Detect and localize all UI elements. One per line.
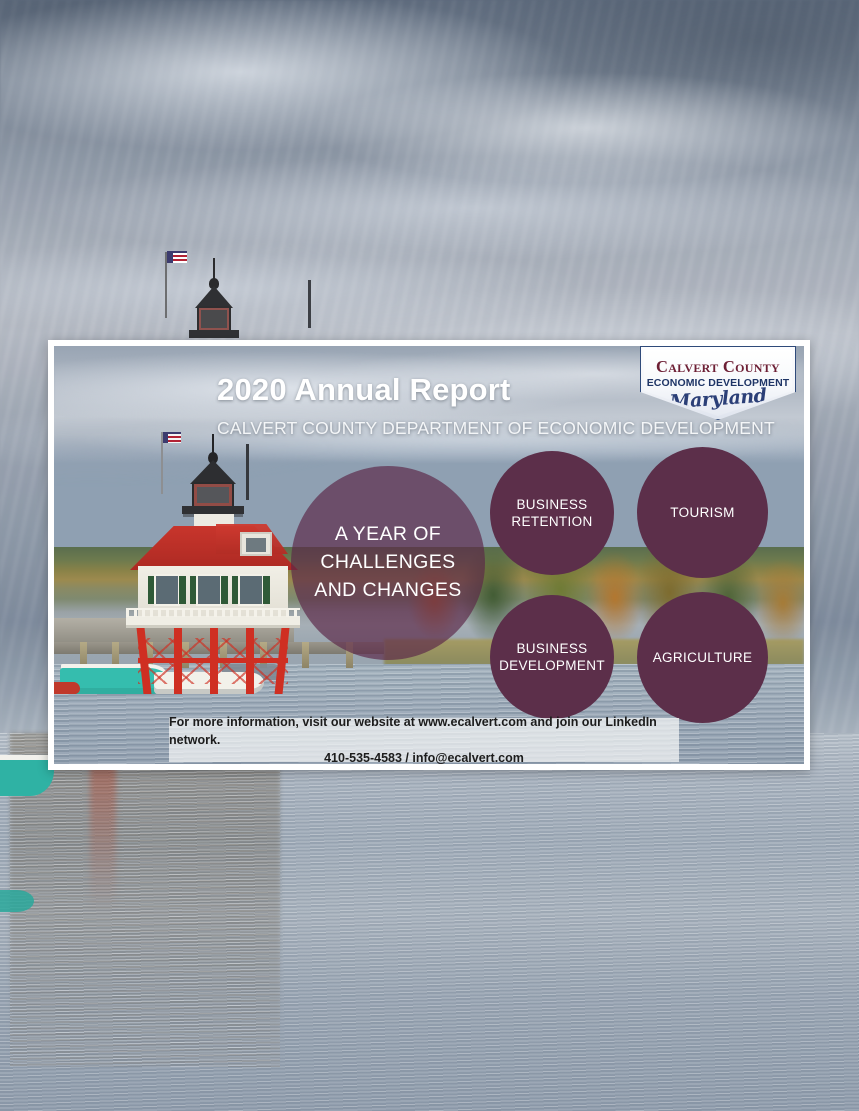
- circle-business-retention-line-2: RETENTION: [511, 513, 592, 530]
- logo-line-county: Calvert County: [644, 357, 792, 377]
- background-boat-teal-2: [0, 890, 34, 912]
- annual-report-page: 2020 Annual Report CALVERT COUNTY DEPART…: [0, 0, 859, 1111]
- circle-business-development-line-1: BUSINESS: [499, 640, 605, 657]
- circle-main-line-1: A YEAR OF: [314, 521, 461, 549]
- circle-agriculture-line-1: AGRICULTURE: [653, 649, 753, 666]
- circle-tourism-line-1: TOURISM: [670, 504, 734, 521]
- circle-business-retention[interactable]: BUSINESS RETENTION: [490, 451, 614, 575]
- footer-contact-line: 410-535-4583 / info@ecalvert.com: [324, 749, 524, 764]
- circle-business-development-line-2: DEVELOPMENT: [499, 657, 605, 674]
- contact-footer: For more information, visit our website …: [169, 718, 679, 762]
- background-lighthouse-icon: [155, 248, 275, 348]
- circle-a-year-of-challenges-and-changes[interactable]: A YEAR OF CHALLENGES AND CHANGES: [291, 466, 485, 660]
- circle-tourism[interactable]: TOURISM: [637, 447, 768, 578]
- slide-inner: 2020 Annual Report CALVERT COUNTY DEPART…: [54, 346, 804, 764]
- page-subtitle: CALVERT COUNTY DEPARTMENT OF ECONOMIC DE…: [217, 418, 775, 439]
- slide-piling: [302, 642, 309, 668]
- circle-agriculture[interactable]: AGRICULTURE: [637, 592, 768, 723]
- circle-main-line-3: AND CHANGES: [314, 577, 461, 605]
- footer-website-line: For more information, visit our website …: [169, 713, 679, 749]
- slide-piling: [80, 642, 87, 668]
- report-cover-slide: 2020 Annual Report CALVERT COUNTY DEPART…: [48, 340, 810, 770]
- circle-main-line-2: CHALLENGES: [314, 549, 461, 577]
- circle-business-retention-line-1: BUSINESS: [511, 496, 592, 513]
- drum-point-lighthouse-illustration: [112, 432, 298, 664]
- circle-business-development[interactable]: BUSINESS DEVELOPMENT: [490, 595, 614, 719]
- american-flag-icon: [163, 432, 181, 443]
- slide-boat-red: [54, 682, 80, 694]
- page-title: 2020 Annual Report: [217, 372, 511, 408]
